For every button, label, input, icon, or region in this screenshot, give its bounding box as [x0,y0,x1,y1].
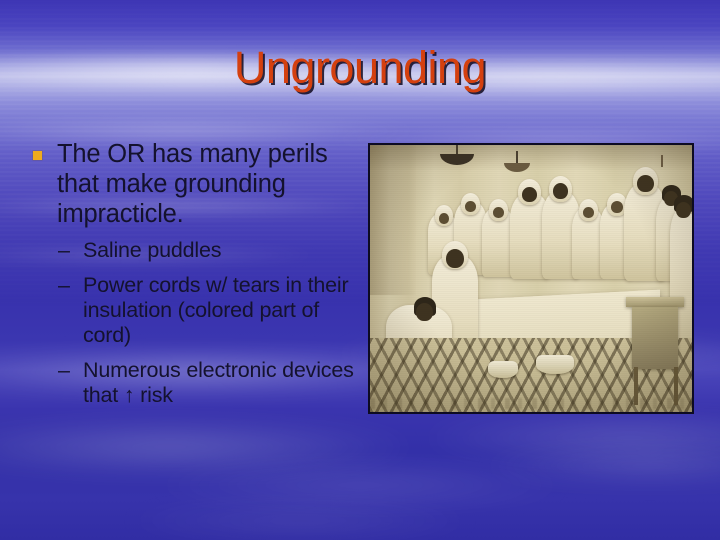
bullet-level2: – Saline puddles [58,238,364,263]
bullet-level2: – Power cords w/ tears in their insulati… [58,273,364,348]
dash-bullet-icon: – [58,238,70,263]
bullet-level2-text: Power cords w/ tears in their insulation… [83,273,348,347]
bullet-level2-list: – Saline puddles – Power cords w/ tears … [24,238,364,408]
photo-canvas [370,145,692,412]
bullet-level1: The OR has many perils that make groundi… [24,139,364,229]
presentation-slide: Ungrounding The OR has many perils that … [0,0,720,540]
photo-vignette [370,145,692,412]
bullet-level2-text: Saline puddles [83,238,221,262]
bullet-level2: – Numerous electronic devices that ↑ ris… [58,358,364,408]
bullet-level1-text: The OR has many perils that make groundi… [57,140,328,228]
square-bullet-icon [33,151,42,160]
slide-title: Ungrounding [0,42,720,94]
dash-bullet-icon: – [58,358,70,383]
operating-room-photo [368,143,694,414]
slide-body: The OR has many perils that make groundi… [24,139,364,408]
dash-bullet-icon: – [58,273,70,298]
bullet-level2-text: Numerous electronic devices that ↑ risk [83,358,354,407]
